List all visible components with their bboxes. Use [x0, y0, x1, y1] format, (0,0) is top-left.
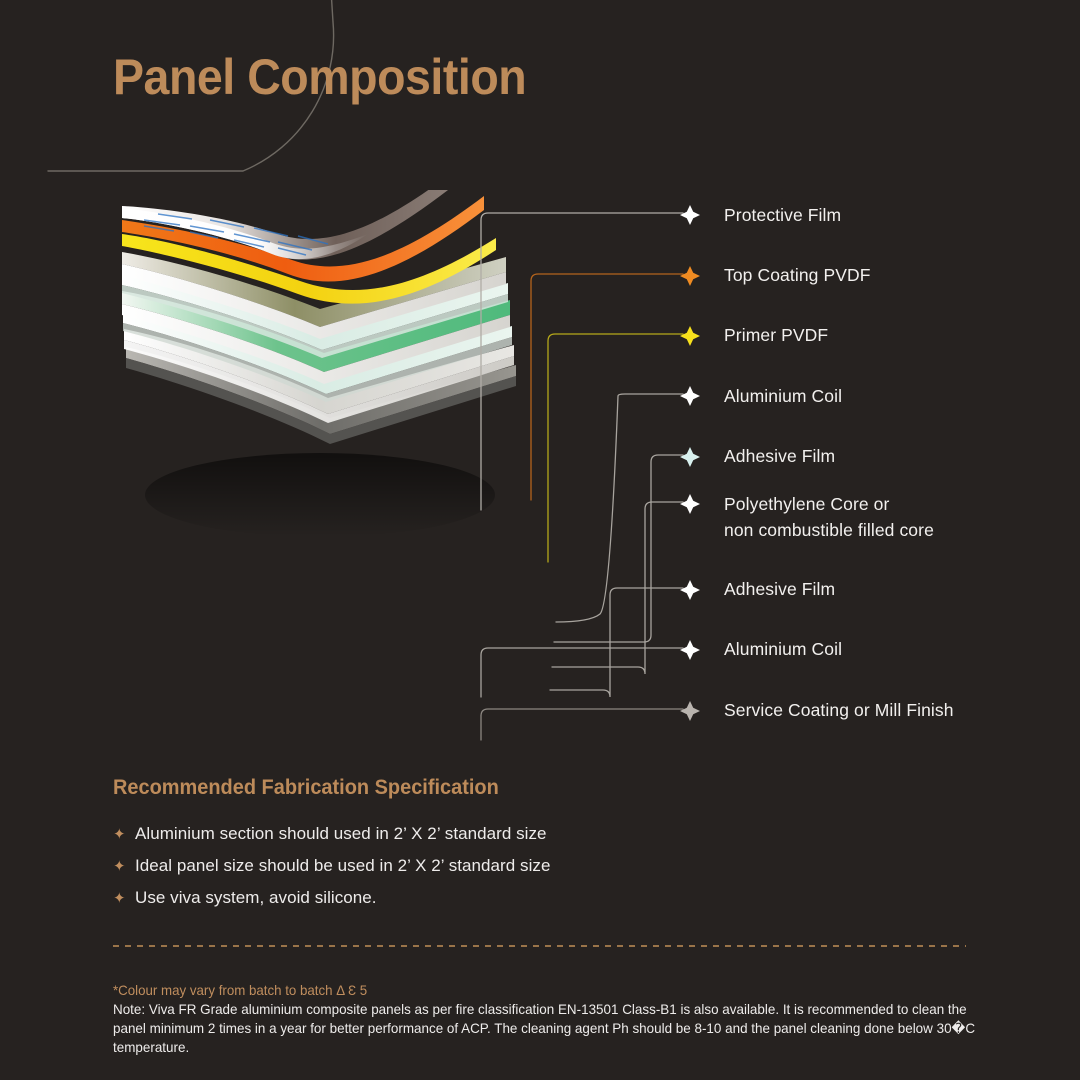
spec-list-item: ✦ Ideal panel size should be used in 2’ …: [113, 854, 813, 886]
callout-label-protective-film: Protective Film: [724, 202, 841, 228]
sparkle-icon-adhesive-film-bottom: [680, 580, 700, 600]
spec-item-text: Ideal panel size should be used in 2’ X …: [135, 854, 550, 878]
sparkle-icon-top-coating-pvdf: [680, 266, 700, 286]
sparkle-icon-aluminium-coil-bottom: [680, 640, 700, 660]
callout-label-adhesive-film-top: Adhesive Film: [724, 443, 835, 469]
specification-list: ✦ Aluminium section should used in 2’ X …: [113, 822, 813, 918]
callout-label-service-coating: Service Coating or Mill Finish: [724, 697, 954, 723]
callout-label-primer-pvdf: Primer PVDF: [724, 322, 828, 348]
panel-composition-infographic: Panel Composition: [0, 0, 1080, 1080]
sparkle-icon-adhesive-film-top: [680, 447, 700, 467]
sparkle-icon-service-coating: [680, 701, 700, 721]
sparkle-bullet-icon: ✦: [113, 854, 135, 879]
spec-list-item: ✦ Aluminium section should used in 2’ X …: [113, 822, 813, 854]
callout-label-top-coating-pvdf: Top Coating PVDF: [724, 262, 871, 288]
callout-markers: [0, 180, 1080, 750]
callout-label-aluminium-coil-top: Aluminium Coil: [724, 383, 842, 409]
sparkle-icon-protective-film: [680, 205, 700, 225]
spec-item-text: Use viva system, avoid silicone.: [135, 886, 377, 910]
page-title: Panel Composition: [113, 48, 526, 106]
callout-label-polyethylene-core: Polyethylene Core or non combustible fil…: [724, 491, 934, 543]
specification-heading: Recommended Fabrication Specification: [113, 776, 499, 800]
sparkle-icon-primer-pvdf: [680, 326, 700, 346]
sparkle-icon-polyethylene-core: [680, 494, 700, 514]
callout-label-adhesive-film-bottom: Adhesive Film: [724, 576, 835, 602]
footnote-note: Note: Viva FR Grade aluminium composite …: [113, 1000, 977, 1057]
spec-list-item: ✦ Use viva system, avoid silicone.: [113, 886, 813, 918]
sparkle-icon-aluminium-coil-top: [680, 386, 700, 406]
diagram-area: Protective Film Top Coating PVDF Primer …: [0, 180, 1080, 750]
sparkle-bullet-icon: ✦: [113, 822, 135, 847]
spec-item-text: Aluminium section should used in 2’ X 2’…: [135, 822, 547, 846]
callout-label-aluminium-coil-bottom: Aluminium Coil: [724, 636, 842, 662]
footnote-colour-disclaimer: *Colour may vary from batch to batch Δ Ɛ…: [113, 982, 367, 998]
dashed-divider: [113, 945, 966, 947]
sparkle-bullet-icon: ✦: [113, 886, 135, 911]
